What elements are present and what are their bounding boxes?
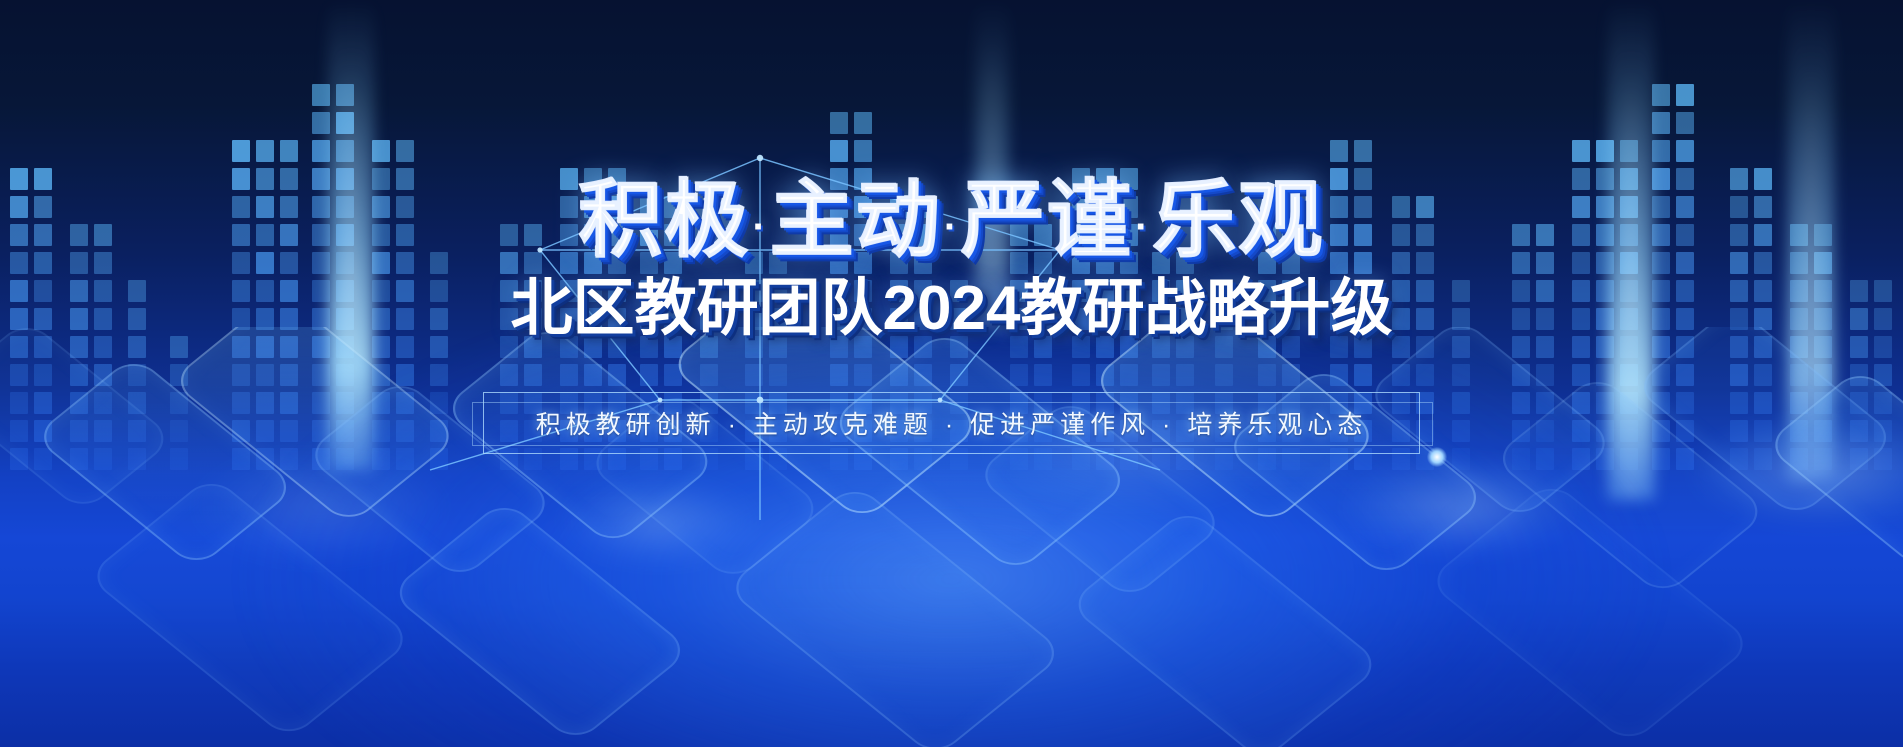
headline-separator: · [752,205,767,249]
banner-content: 积极·主动·严谨·乐观 北区教研团队2024教研战略升级 积极教研创新 · 主动… [0,0,1903,747]
headline: 积极·主动·严谨·乐观 [578,178,1324,262]
headline-word: 乐观 [1153,173,1325,267]
tagline: 积极教研创新 · 主动攻克难题 · 促进严谨作风 · 培养乐观心态 [536,405,1368,441]
tagline-frame: 积极教研创新 · 主动攻克难题 · 促进严谨作风 · 培养乐观心态 [483,392,1421,454]
headline-word: 主动 [770,173,942,267]
subheadline: 北区教研团队2024教研战略升级 [511,278,1393,340]
headline-separator: · [944,205,959,249]
headline-word: 严谨 [961,173,1133,267]
banner-root: 积极·主动·严谨·乐观 北区教研团队2024教研战略升级 积极教研创新 · 主动… [0,0,1903,747]
headline-word: 积极 [578,173,750,267]
glow-dot-icon [1427,447,1447,467]
headline-separator: · [1135,205,1150,249]
